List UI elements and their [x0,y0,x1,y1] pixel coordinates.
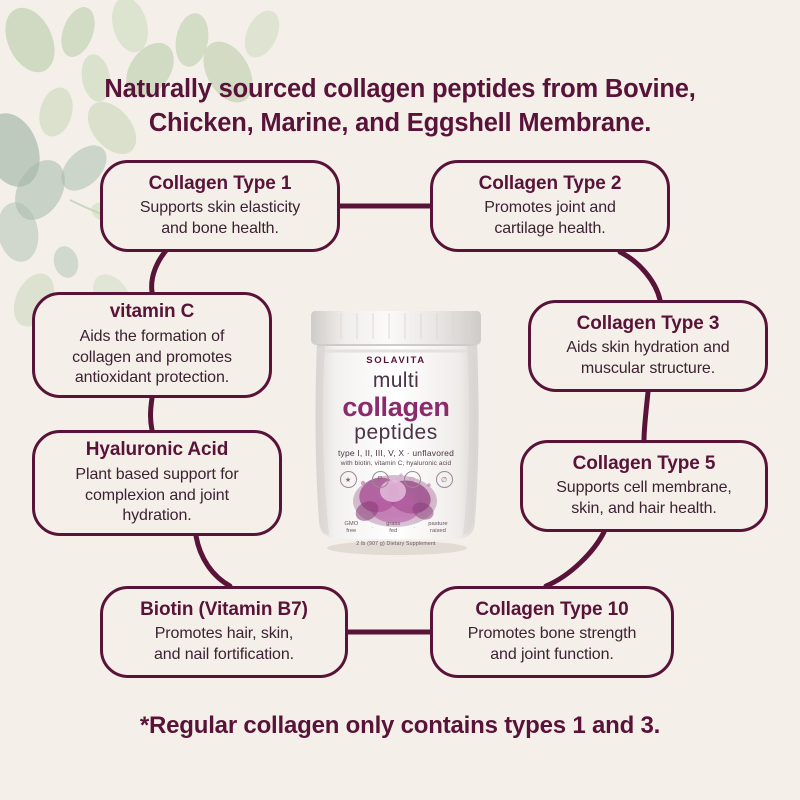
callout-title: Collagen Type 10 [475,599,628,622]
headline-line-1: Naturally sourced collagen peptides from… [40,73,760,107]
callout-collagen-type-2: Collagen Type 2 Promotes joint and carti… [430,160,670,252]
callout-title: Hyaluronic Acid [86,439,228,462]
callout-description: Plant based support for complexion and j… [75,465,238,526]
callout-collagen-type-5: Collagen Type 5 Supports cell membrane, … [520,440,768,532]
callout-title: Collagen Type 3 [577,313,720,336]
callout-biotin: Biotin (Vitamin B7) Promotes hair, skin,… [100,586,348,678]
collagen-infographic: Naturally sourced collagen peptides from… [0,0,800,800]
connector-hyaluronic-biotin [196,536,230,586]
headline-line-2: Chicken, Marine, and Eggshell Membrane. [40,107,760,141]
callout-collagen-type-1: Collagen Type 1 Supports skin elasticity… [100,160,340,252]
callout-description: Supports skin elasticity and bone health… [140,198,300,239]
callout-description: Aids the formation of collagen and promo… [72,327,232,388]
callout-description: Aids skin hydration and muscular structu… [566,338,729,379]
callout-title: Biotin (Vitamin B7) [140,599,308,622]
callout-vitamin-c: vitamin C Aids the formation of collagen… [32,292,272,398]
callout-title: Collagen Type 5 [573,453,716,476]
callout-hyaluronic-acid: Hyaluronic Acid Plant based support for … [32,430,282,536]
callout-description: Promotes joint and cartilage health. [484,198,616,239]
connector-type5-type10 [546,532,604,586]
footnote-text: *Regular collagen only contains types 1 … [40,712,760,740]
callout-title: vitamin C [110,301,195,324]
product-pouch: SOLAVITA multi collagen peptides type I,… [305,305,487,555]
callout-description: Promotes bone strength and joint functio… [468,624,637,665]
connector-type3-type5 [644,392,648,440]
connector-type2-type3 [620,252,660,300]
connector-vitaminc-hyaluronic [151,398,153,430]
page-title: Naturally sourced collagen peptides from… [40,73,760,141]
callout-title: Collagen Type 2 [479,173,622,196]
pouch-illustration [305,305,487,555]
callout-description: Promotes hair, skin, and nail fortificat… [154,624,294,665]
callout-description: Supports cell membrane, skin, and hair h… [556,478,732,519]
callout-collagen-type-10: Collagen Type 10 Promotes bone strength … [430,586,674,678]
callout-title: Collagen Type 1 [149,173,292,196]
callout-collagen-type-3: Collagen Type 3 Aids skin hydration and … [528,300,768,392]
